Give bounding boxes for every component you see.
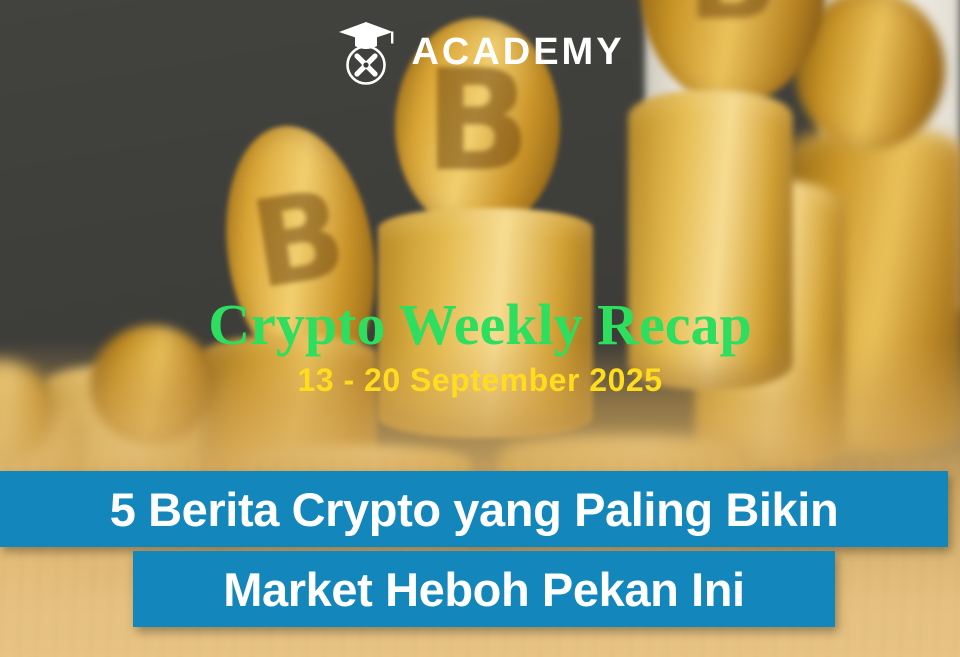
headline-line-2: Market Heboh Pekan Ini bbox=[223, 566, 744, 613]
graduation-cap-x-circle-icon bbox=[335, 18, 397, 86]
poster-canvas: B B B bbox=[0, 0, 960, 657]
brand-name: ACADEMY bbox=[411, 33, 624, 71]
page-title: Crypto Weekly Recap bbox=[0, 296, 960, 354]
title-block: Crypto Weekly Recap 13 - 20 September 20… bbox=[0, 296, 960, 396]
headline-banner-primary: 5 Berita Crypto yang Paling Bikin bbox=[0, 471, 948, 547]
headline-line-1: 5 Berita Crypto yang Paling Bikin bbox=[110, 486, 839, 533]
bitcoin-symbol-icon: B bbox=[218, 171, 380, 312]
brand-logo: ACADEMY bbox=[0, 18, 960, 86]
headline-banner-secondary: Market Heboh Pekan Ini bbox=[133, 551, 835, 627]
date-range: 13 - 20 September 2025 bbox=[0, 364, 960, 396]
